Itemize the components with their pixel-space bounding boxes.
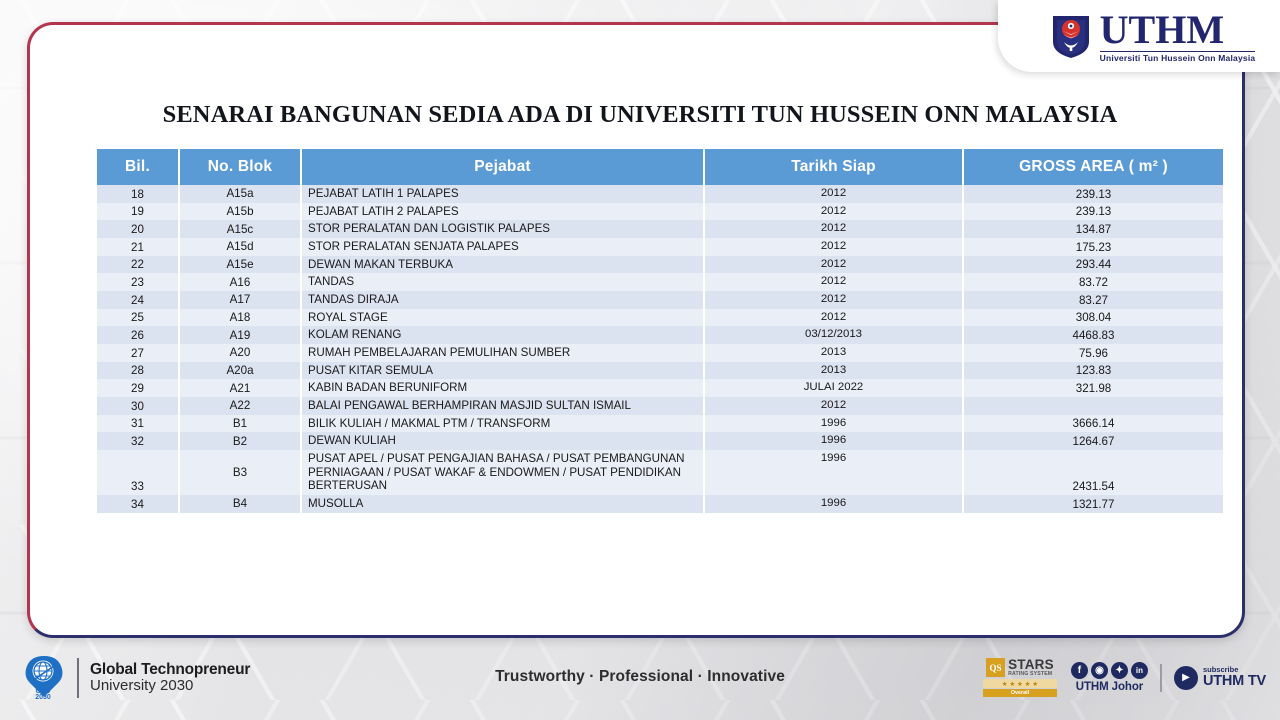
table-row[interactable]: 19A15bPEJABAT LATIH 2 PALAPES2012239.13 <box>97 203 1223 221</box>
cell-bil: 30 <box>97 397 179 415</box>
cell-gross-area: 123.83 <box>963 362 1223 380</box>
slide-card: SENARAI BANGUNAN SEDIA ADA DI UNIVERSITI… <box>27 22 1245 638</box>
cell-pejabat: PEJABAT LATIH 1 PALAPES <box>301 185 704 203</box>
table-row[interactable]: 25A18ROYAL STAGE2012308.04 <box>97 309 1223 327</box>
table-body: 18A15aPEJABAT LATIH 1 PALAPES2012239.131… <box>97 185 1223 513</box>
cell-no-blok: B3 <box>179 450 301 495</box>
cell-no-blok: B1 <box>179 415 301 433</box>
uthm-logo-tab: UTHM Universiti Tun Hussein Onn Malaysia <box>998 0 1280 72</box>
cell-pejabat: PUSAT KITAR SEMULA <box>301 362 704 380</box>
footer-right-cluster: QS STARS RATING SYSTEM ★ ★ ★ ★ ★ Overall… <box>981 658 1266 697</box>
twitter-icon[interactable]: ✦ <box>1111 662 1128 679</box>
cell-bil: 27 <box>97 344 179 362</box>
cell-pejabat: BILIK KULIAH / MAKMAL PTM / TRANSFORM <box>301 415 704 433</box>
cell-pejabat: PEJABAT LATIH 2 PALAPES <box>301 203 704 221</box>
cell-bil: 23 <box>97 273 179 291</box>
cell-bil: 24 <box>97 291 179 309</box>
cell-bil: 31 <box>97 415 179 433</box>
table-row[interactable]: 33B3PUSAT APEL / PUSAT PENGAJIAN BAHASA … <box>97 450 1223 495</box>
cell-bil: 19 <box>97 203 179 221</box>
table-header-row: Bil. No. Blok Pejabat Tarikh Siap GROSS … <box>97 149 1223 185</box>
cell-gross-area: 75.96 <box>963 344 1223 362</box>
cell-gross-area: 239.13 <box>963 203 1223 221</box>
cell-pejabat: DEWAN MAKAN TERBUKA <box>301 256 704 274</box>
cell-pejabat: KOLAM RENANG <box>301 326 704 344</box>
social-handle-label: UTHM Johor <box>1076 681 1143 693</box>
cell-pejabat: PUSAT APEL / PUSAT PENGAJIAN BAHASA / PU… <box>301 450 704 495</box>
cell-no-blok: A22 <box>179 397 301 415</box>
table-row[interactable]: 30A22BALAI PENGAWAL BERHAMPIRAN MASJID S… <box>97 397 1223 415</box>
buildings-table: Bil. No. Blok Pejabat Tarikh Siap GROSS … <box>97 149 1223 513</box>
cell-gross-area: 308.04 <box>963 309 1223 327</box>
cell-no-blok: A19 <box>179 326 301 344</box>
cell-no-blok: A20a <box>179 362 301 380</box>
cell-tarikh: 2012 <box>704 309 963 327</box>
cell-tarikh: 2012 <box>704 273 963 291</box>
cell-no-blok: A20 <box>179 344 301 362</box>
cell-gross-area: 2431.54 <box>963 450 1223 495</box>
play-icon[interactable]: ▶ <box>1174 666 1198 690</box>
instagram-icon[interactable]: ◉ <box>1091 662 1108 679</box>
cell-bil: 21 <box>97 238 179 256</box>
uthm-logo-subtitle: Universiti Tun Hussein Onn Malaysia <box>1100 51 1256 63</box>
cell-tarikh: JULAI 2022 <box>704 379 963 397</box>
social-links[interactable]: f ◉ ✦ in UTHM Johor <box>1071 662 1148 693</box>
cell-no-blok: A16 <box>179 273 301 291</box>
qs-stars-badge[interactable]: QS STARS RATING SYSTEM ★ ★ ★ ★ ★ Overall <box>981 658 1059 697</box>
buildings-table-container: Bil. No. Blok Pejabat Tarikh Siap GROSS … <box>97 149 1223 513</box>
cell-tarikh: 1996 <box>704 450 963 495</box>
cell-gross-area: 3666.14 <box>963 415 1223 433</box>
cell-bil: 25 <box>97 309 179 327</box>
cell-pejabat: KABIN BADAN BERUNIFORM <box>301 379 704 397</box>
column-header-no-blok[interactable]: No. Blok <box>179 149 301 185</box>
cell-bil: 28 <box>97 362 179 380</box>
uthm-logo-word: UTHM <box>1100 10 1256 50</box>
table-row[interactable]: 31B1BILIK KULIAH / MAKMAL PTM / TRANSFOR… <box>97 415 1223 433</box>
cell-pejabat: DEWAN KULIAH <box>301 432 704 450</box>
cell-no-blok: A15d <box>179 238 301 256</box>
cell-gross-area: 134.87 <box>963 220 1223 238</box>
cell-tarikh: 1996 <box>704 432 963 450</box>
qs-rating-label: RATING SYSTEM <box>1008 672 1054 677</box>
cell-tarikh: 1996 <box>704 495 963 513</box>
cell-gross-area: 321.98 <box>963 379 1223 397</box>
qs-stars-label: STARS <box>1008 658 1054 672</box>
cell-tarikh: 2012 <box>704 397 963 415</box>
cell-no-blok: A17 <box>179 291 301 309</box>
table-row[interactable]: 28A20aPUSAT KITAR SEMULA2013123.83 <box>97 362 1223 380</box>
cell-no-blok: A15b <box>179 203 301 221</box>
cell-bil: 22 <box>97 256 179 274</box>
cell-bil: 26 <box>97 326 179 344</box>
qs-logo: QS <box>986 658 1005 677</box>
table-row[interactable]: 20A15cSTOR PERALATAN DAN LOGISTIK PALAPE… <box>97 220 1223 238</box>
cell-no-blok: A15e <box>179 256 301 274</box>
cell-tarikh: 03/12/2013 <box>704 326 963 344</box>
table-row[interactable]: 23A16TANDAS201283.72 <box>97 273 1223 291</box>
cell-tarikh: 2012 <box>704 238 963 256</box>
gtu-badge-line2: 2030 <box>35 694 51 701</box>
footer-divider <box>1160 664 1162 692</box>
cell-bil: 18 <box>97 185 179 203</box>
cell-pejabat: ROYAL STAGE <box>301 309 704 327</box>
uthm-wordmark: UTHM Universiti Tun Hussein Onn Malaysia <box>1100 10 1256 63</box>
cell-gross-area: 293.44 <box>963 256 1223 274</box>
table-row[interactable]: 18A15aPEJABAT LATIH 1 PALAPES2012239.13 <box>97 185 1223 203</box>
cell-pejabat: BALAI PENGAWAL BERHAMPIRAN MASJID SULTAN… <box>301 397 704 415</box>
cell-tarikh: 2012 <box>704 203 963 221</box>
cell-bil: 20 <box>97 220 179 238</box>
cell-no-blok: B2 <box>179 432 301 450</box>
column-header-tarikh-siap[interactable]: Tarikh Siap <box>704 149 963 185</box>
table-row[interactable]: 27A20RUMAH PEMBELAJARAN PEMULIHAN SUMBER… <box>97 344 1223 362</box>
cell-pejabat: TANDAS <box>301 273 704 291</box>
cell-tarikh: 2013 <box>704 362 963 380</box>
table-row[interactable]: 21A15dSTOR PERALATAN SENJATA PALAPES2012… <box>97 238 1223 256</box>
cell-no-blok: A18 <box>179 309 301 327</box>
table-header: Bil. No. Blok Pejabat Tarikh Siap GROSS … <box>97 149 1223 185</box>
table-row[interactable]: 24A17TANDAS DIRAJA201283.27 <box>97 291 1223 309</box>
cell-no-blok: A15c <box>179 220 301 238</box>
cell-tarikh: 2012 <box>704 220 963 238</box>
cell-tarikh: 1996 <box>704 415 963 433</box>
cell-no-blok: B4 <box>179 495 301 513</box>
cell-tarikh: 2012 <box>704 185 963 203</box>
page-title: SENARAI BANGUNAN SEDIA ADA DI UNIVERSITI… <box>90 101 1190 129</box>
qs-star-row: ★ ★ ★ ★ ★ <box>983 679 1057 688</box>
cell-bil: 29 <box>97 379 179 397</box>
cell-bil: 32 <box>97 432 179 450</box>
uthm-tv-link[interactable]: ▶ subscribe UTHM TV <box>1174 666 1266 690</box>
table-row[interactable]: 29A21KABIN BADAN BERUNIFORMJULAI 2022321… <box>97 379 1223 397</box>
cell-pejabat: STOR PERALATAN DAN LOGISTIK PALAPES <box>301 220 704 238</box>
facebook-icon[interactable]: f <box>1071 662 1088 679</box>
table-row[interactable]: 26A19KOLAM RENANG03/12/20134468.83 <box>97 326 1223 344</box>
cell-tarikh: 2013 <box>704 344 963 362</box>
qs-overall-label: Overall <box>983 689 1057 697</box>
column-header-pejabat[interactable]: Pejabat <box>301 149 704 185</box>
cell-gross-area: 4468.83 <box>963 326 1223 344</box>
cell-gross-area: 239.13 <box>963 185 1223 203</box>
uthm-tv-label: UTHM TV <box>1203 674 1266 689</box>
linkedin-icon[interactable]: in <box>1131 662 1148 679</box>
cell-pejabat: STOR PERALATAN SENJATA PALAPES <box>301 238 704 256</box>
cell-gross-area: 175.23 <box>963 238 1223 256</box>
cell-gross-area: 83.27 <box>963 291 1223 309</box>
cell-gross-area: 1321.77 <box>963 495 1223 513</box>
cell-no-blok: A15a <box>179 185 301 203</box>
table-row[interactable]: 32B2DEWAN KULIAH19961264.67 <box>97 432 1223 450</box>
table-row[interactable]: 34B4MUSOLLA19961321.77 <box>97 495 1223 513</box>
uthm-shield-icon <box>1051 13 1091 59</box>
cell-gross-area <box>963 397 1223 415</box>
cell-no-blok: A21 <box>179 379 301 397</box>
table-row[interactable]: 22A15eDEWAN MAKAN TERBUKA2012293.44 <box>97 256 1223 274</box>
cell-tarikh: 2012 <box>704 291 963 309</box>
cell-pejabat: MUSOLLA <box>301 495 704 513</box>
slide-footer: GTU 2030 Global Technopreneur University… <box>0 642 1280 720</box>
cell-tarikh: 2012 <box>704 256 963 274</box>
cell-bil: 34 <box>97 495 179 513</box>
cell-bil: 33 <box>97 450 179 495</box>
cell-pejabat: TANDAS DIRAJA <box>301 291 704 309</box>
cell-gross-area: 1264.67 <box>963 432 1223 450</box>
cell-pejabat: RUMAH PEMBELAJARAN PEMULIHAN SUMBER <box>301 344 704 362</box>
column-header-bil[interactable]: Bil. <box>97 149 179 185</box>
cell-gross-area: 83.72 <box>963 273 1223 291</box>
column-header-gross-area[interactable]: GROSS AREA ( m² ) <box>963 149 1223 185</box>
